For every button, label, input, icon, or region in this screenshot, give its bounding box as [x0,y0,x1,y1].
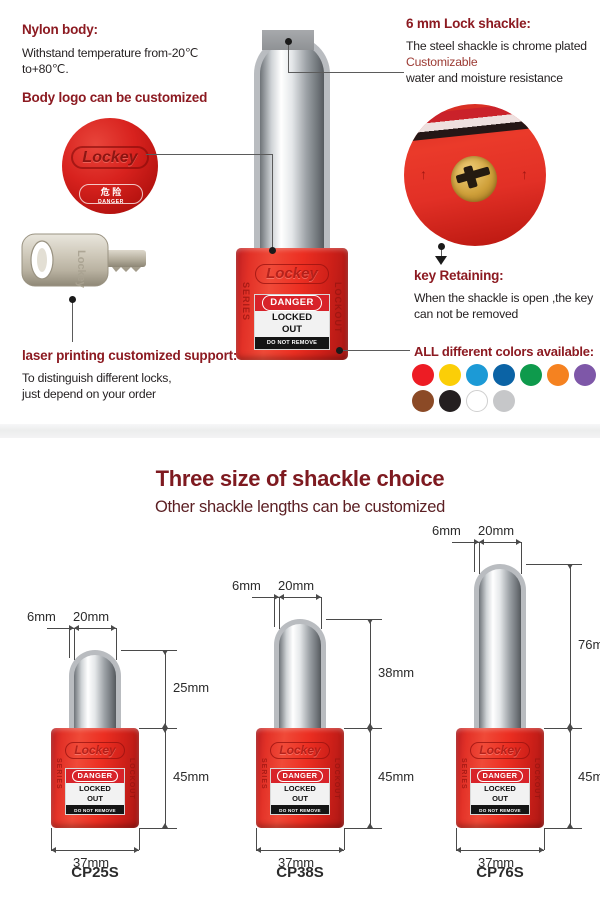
do-not-remove-band-cp76s: DO NOT REMOVE [471,805,529,815]
product-padlock-cp76s: SERIES LOCKOUT Lockey DANGER LOCKEDOUT D… [0,0,600,900]
shackle-cp76s [474,564,526,736]
dim-body-height-cp76s: 45mm [578,769,600,784]
dim-shackle-height-cp76s: 76mm [578,637,600,652]
side-text-left-cp76s: SERIES [460,758,467,790]
model-name-cp76s: CP76S [440,864,560,881]
dim-shackle-diameter-cp76s: 6mm [432,523,461,538]
dim-shackle-width-cp76s: 20mm [478,523,514,538]
brand-emboss-cp76s: Lockey [470,742,530,759]
danger-band-cp76s: DANGER [471,769,529,783]
side-text-right-cp76s: LOCKOUT [533,758,540,800]
locked-out-band-cp76s: LOCKEDOUT [471,783,529,805]
lock-body-cp76s: SERIES LOCKOUT Lockey DANGER LOCKEDOUT D… [456,728,544,828]
warning-label-cp76s: DANGER LOCKEDOUT DO NOT REMOVE [470,768,530,815]
